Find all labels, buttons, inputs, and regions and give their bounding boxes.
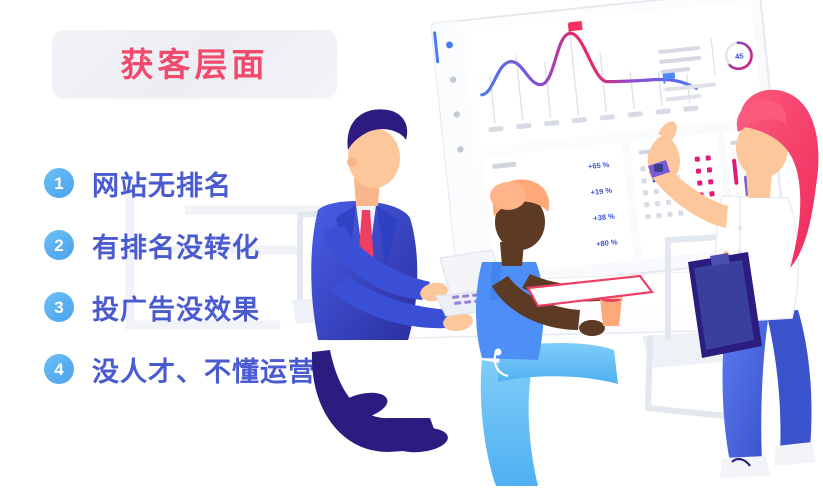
list-item-label: 投广告没效果: [92, 288, 260, 327]
list-number-badge: 3: [44, 292, 74, 322]
list-item-label: 有排名没转化: [92, 226, 260, 265]
presenter-shoe: [720, 456, 770, 478]
presenter-pants: [766, 310, 812, 452]
page-title: 获客层面: [121, 48, 269, 81]
gauge-value: 45: [735, 51, 744, 61]
list-number-badge: 1: [44, 168, 74, 198]
seated-hand: [579, 320, 605, 336]
illustration-banner: 获客层面 1 网站无排名 2 有排名没转化 3 投广告没效果 4 没人才、不懂运…: [0, 0, 823, 500]
list-item-label: 网站无排名: [92, 164, 232, 203]
presenter-shoe: [774, 442, 816, 466]
list-number-badge: 4: [44, 354, 74, 384]
team-dashboard-illustration: +65 % +19 % +38 % +80 %: [270, 0, 823, 500]
list-number-badge: 2: [44, 230, 74, 260]
